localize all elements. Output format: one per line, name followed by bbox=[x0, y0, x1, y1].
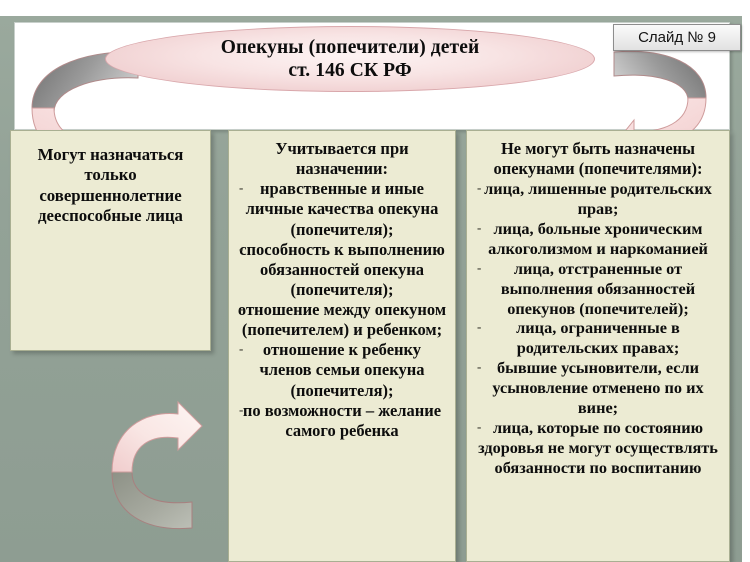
bullet-dash-icon: - bbox=[477, 319, 481, 335]
list-item-text: отношение к ребенку членов семьи опекуна… bbox=[259, 340, 424, 399]
slide-title-line-2: ст. 146 СК РФ bbox=[288, 59, 411, 82]
list-item-text: по возможности – желание самого ребенка bbox=[243, 401, 441, 440]
bullet-dash-icon: - bbox=[477, 260, 481, 276]
list-item: -отношение между опекуном (попечителем) … bbox=[235, 300, 449, 340]
bullet-dash-icon: - bbox=[239, 341, 243, 357]
slide-canvas: Опекуны (попечители) детей ст. 146 СК РФ… bbox=[0, 0, 750, 562]
right-box-list: -лица, лишенные родительских прав; -лица… bbox=[473, 179, 723, 477]
bullet-dash-icon: - bbox=[477, 359, 481, 375]
bullet-dash-icon: - bbox=[239, 402, 243, 418]
list-item-text: лица, которые по состоянию здоровья не м… bbox=[478, 418, 718, 477]
list-item-text: лица, отстраненные от выполнения обязанн… bbox=[501, 259, 695, 318]
middle-box-heading: Учитывается при назначении: bbox=[235, 139, 449, 179]
list-item-text: отношение между опекуном (попечителем) и… bbox=[238, 300, 446, 339]
bullet-dash-icon: - bbox=[477, 180, 481, 196]
list-item: -отношение к ребенку членов семьи опекун… bbox=[235, 340, 449, 400]
right-box-heading: Не могут быть назначены опекунами (попеч… bbox=[473, 139, 723, 179]
list-item: -по возможности – желание самого ребенка bbox=[235, 401, 449, 441]
middle-box-list: -нравственные и иные личные качества опе… bbox=[235, 179, 449, 441]
list-item-text: бывшие усыновители, если усыновление отм… bbox=[492, 358, 703, 417]
bullet-dash-icon: - bbox=[239, 241, 243, 257]
list-item: -лица, отстраненные от выполнения обязан… bbox=[473, 259, 723, 319]
slide-title-ellipse: Опекуны (попечители) детей ст. 146 СК РФ bbox=[105, 26, 595, 92]
left-box-heading: Могут назначаться только совершеннолетни… bbox=[17, 139, 204, 227]
list-item-text: лица, больные хроническим алкоголизмом и… bbox=[488, 219, 708, 258]
bullet-dash-icon: - bbox=[239, 301, 243, 317]
bullet-dash-icon: - bbox=[239, 180, 243, 196]
list-item: -лица, больные хроническим алкоголизмом … bbox=[473, 219, 723, 259]
list-item: -лица, лишенные родительских прав; bbox=[473, 179, 723, 219]
list-item: -бывшие усыновители, если усыновление от… bbox=[473, 358, 723, 418]
list-item-text: лица, ограниченные в родительских правах… bbox=[516, 318, 680, 357]
list-item: -лица, которые по состоянию здоровья не … bbox=[473, 418, 723, 478]
bullet-dash-icon: - bbox=[477, 220, 481, 236]
slide-title-line-1: Опекуны (попечители) детей bbox=[221, 36, 480, 59]
middle-content-box: Учитывается при назначении: -нравственны… bbox=[228, 130, 456, 562]
slide-number-badge[interactable]: Слайд № 9 bbox=[613, 24, 741, 51]
list-item-text: способность к выполнению обязанностей оп… bbox=[239, 240, 445, 299]
list-item-text: лица, лишенные родительских прав; bbox=[484, 179, 712, 218]
list-item: -способность к выполнению обязанностей о… bbox=[235, 240, 449, 300]
list-item-text: нравственные и иные личные качества опек… bbox=[246, 179, 439, 238]
bullet-dash-icon: - bbox=[477, 419, 481, 435]
list-item: -нравственные и иные личные качества опе… bbox=[235, 179, 449, 239]
left-content-box: Могут назначаться только совершеннолетни… bbox=[10, 130, 211, 351]
list-item: -лица, ограниченные в родительских права… bbox=[473, 318, 723, 358]
right-content-box: Не могут быть назначены опекунами (попеч… bbox=[466, 130, 730, 562]
